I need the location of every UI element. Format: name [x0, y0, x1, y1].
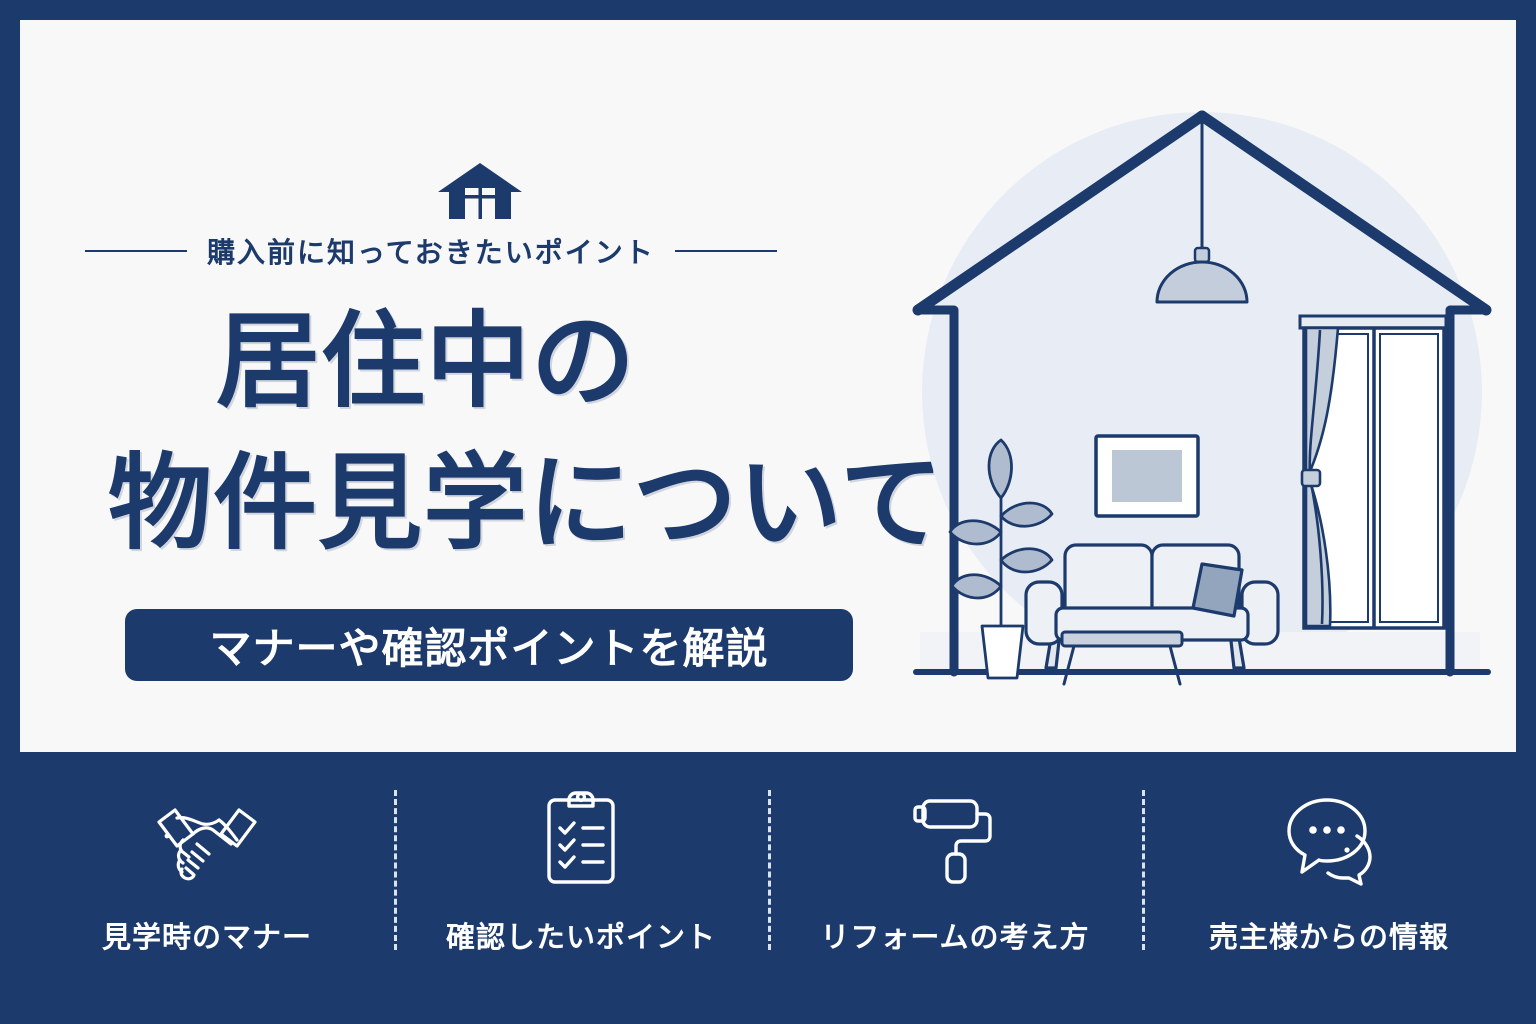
eyebrow-rule-left: [85, 250, 187, 252]
hero-text-column: 購入前に知っておきたいポイント 居住中の 物件見学について マナーや確認ポイント…: [20, 20, 880, 752]
subtitle-badge: マナーや確認ポイントを解説: [125, 609, 853, 681]
handshake-icon: [153, 784, 261, 892]
paint-roller-icon: [901, 784, 1009, 892]
feature-bar: 見学時のマナー 確認したいポイント: [20, 752, 1516, 1024]
house-icon: [437, 162, 523, 220]
throw-pillow: [1193, 564, 1242, 616]
wall-picture-frame: [1096, 436, 1198, 516]
page-title-line-2: 物件見学について: [108, 450, 945, 556]
eyebrow-rule-right: [675, 250, 777, 252]
feature-item-manners[interactable]: 見学時のマナー: [20, 752, 394, 1024]
page-title-line-1: 居住中の: [216, 308, 636, 414]
feature-label: 売主様からの情報: [1209, 914, 1449, 956]
subtitle-badge-label: マナーや確認ポイントを解説: [209, 615, 768, 676]
speech-bubbles-icon: [1275, 784, 1383, 892]
feature-label: 見学時のマナー: [102, 914, 312, 956]
feature-item-checkpoints[interactable]: 確認したいポイント: [394, 752, 768, 1024]
poster-root: 購入前に知っておきたいポイント 居住中の 物件見学について マナーや確認ポイント…: [0, 0, 1536, 1024]
feature-item-renovation[interactable]: リフォームの考え方: [768, 752, 1142, 1024]
house-interior-illustration: [880, 20, 1516, 752]
hero-card: 購入前に知っておきたいポイント 居住中の 物件見学について マナーや確認ポイント…: [20, 20, 1516, 752]
feature-item-seller-info[interactable]: 売主様からの情報: [1142, 752, 1516, 1024]
eyebrow-row: 購入前に知っておきたいポイント: [85, 223, 865, 279]
feature-label: リフォームの考え方: [820, 914, 1089, 956]
feature-label: 確認したいポイント: [446, 914, 716, 956]
eyebrow-text: 購入前に知っておきたいポイント: [207, 231, 655, 271]
clipboard-checklist-icon: [527, 784, 635, 892]
